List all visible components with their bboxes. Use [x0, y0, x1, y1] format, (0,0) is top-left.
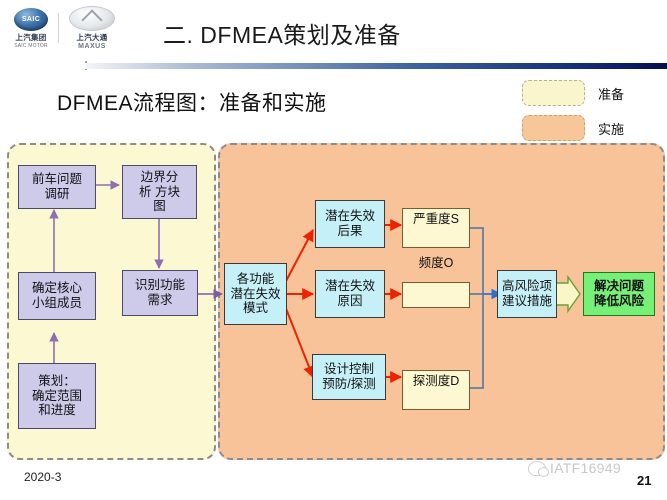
legend-label-impl: 实施: [598, 119, 624, 138]
legend-item-prep: 准备: [522, 80, 624, 106]
saic-logo-en: SAIC MOTOR: [14, 43, 48, 49]
legend-item-impl: 实施: [522, 115, 624, 141]
node-label: 设计控制 预防/探测: [322, 362, 375, 392]
page-title: 二. DFMEA策划及准备: [163, 16, 401, 50]
watermark-text: IATF16949: [550, 460, 621, 476]
node-design-control[interactable]: 设计控制 预防/探测: [312, 354, 386, 400]
maxus-logo-cn: 上汽大通: [76, 32, 107, 43]
saic-maxus-logo: 上汽大通 MAXUS: [69, 6, 115, 50]
maxus-emblem-icon: [69, 6, 115, 31]
saic-motor-logo: SAIC 上汽集团 SAIC MOTOR: [14, 8, 48, 49]
node-blank-rating[interactable]: [402, 282, 470, 308]
node-label: 探测度D: [413, 374, 460, 389]
saic-logo-cn: 上汽集团: [15, 32, 46, 43]
node-prev-vehicle-research[interactable]: 前车问题 调研: [18, 165, 96, 209]
saic-emblem-icon: SAIC: [14, 8, 48, 31]
saic-emblem-text: SAIC: [22, 16, 40, 23]
node-failure-effect[interactable]: 潜在失效 后果: [315, 200, 385, 248]
node-label: 解决问题 降低风险: [594, 279, 644, 309]
node-high-risk-actions[interactable]: 高风险项 建议措施: [497, 270, 557, 318]
slide-subtitle: DFMEA流程图：准备和实施: [57, 87, 327, 117]
node-severity[interactable]: 严重度S: [402, 208, 470, 248]
logo-divider: [58, 13, 59, 43]
legend-swatch-impl-icon: [522, 115, 585, 141]
legend-swatch-prep-icon: [522, 80, 585, 106]
legend-label-prep: 准备: [598, 84, 624, 103]
node-label: 前车问题 调研: [32, 172, 82, 202]
maxus-logo-en: MAXUS: [78, 43, 106, 50]
node-identify-function-needs[interactable]: 识别功能 需求: [122, 270, 198, 316]
title-divider: [85, 63, 667, 69]
legend: 准备 实施: [522, 80, 624, 150]
node-label: 确定核心 小组成员: [32, 281, 82, 311]
node-planning-scope-schedule[interactable]: 策划： 确定范围 和进度: [18, 363, 96, 429]
footer-date: 2020-3: [24, 470, 61, 484]
label-occurrence: 频度O: [402, 252, 470, 271]
node-reduce-risk[interactable]: 解决问题 降低风险: [583, 272, 655, 316]
header-logos: SAIC 上汽集团 SAIC MOTOR 上汽大通 MAXUS: [14, 6, 115, 50]
node-label: 潜在失效 原因: [325, 279, 375, 309]
node-label: 策划： 确定范围 和进度: [32, 374, 82, 418]
node-label: 各功能 潜在失效 模式: [230, 272, 280, 316]
node-label: 潜在失效 后果: [325, 209, 375, 239]
node-detection[interactable]: 探测度D: [402, 370, 470, 410]
wechat-icon: [528, 461, 546, 476]
node-boundary-block-diagram[interactable]: 边界分 析 方块 图: [122, 165, 197, 219]
node-label: 识别功能 需求: [135, 278, 185, 308]
watermark: IATF16949: [528, 460, 621, 476]
node-failure-cause[interactable]: 潜在失效 原因: [315, 270, 385, 318]
node-core-team-members[interactable]: 确定核心 小组成员: [18, 272, 96, 320]
page-number: 21: [637, 473, 651, 488]
node-function-failure-mode[interactable]: 各功能 潜在失效 模式: [224, 263, 287, 325]
node-label: 边界分 析 方块 图: [139, 170, 180, 214]
node-label: 严重度S: [413, 212, 459, 227]
node-label: 高风险项 建议措施: [502, 279, 552, 309]
